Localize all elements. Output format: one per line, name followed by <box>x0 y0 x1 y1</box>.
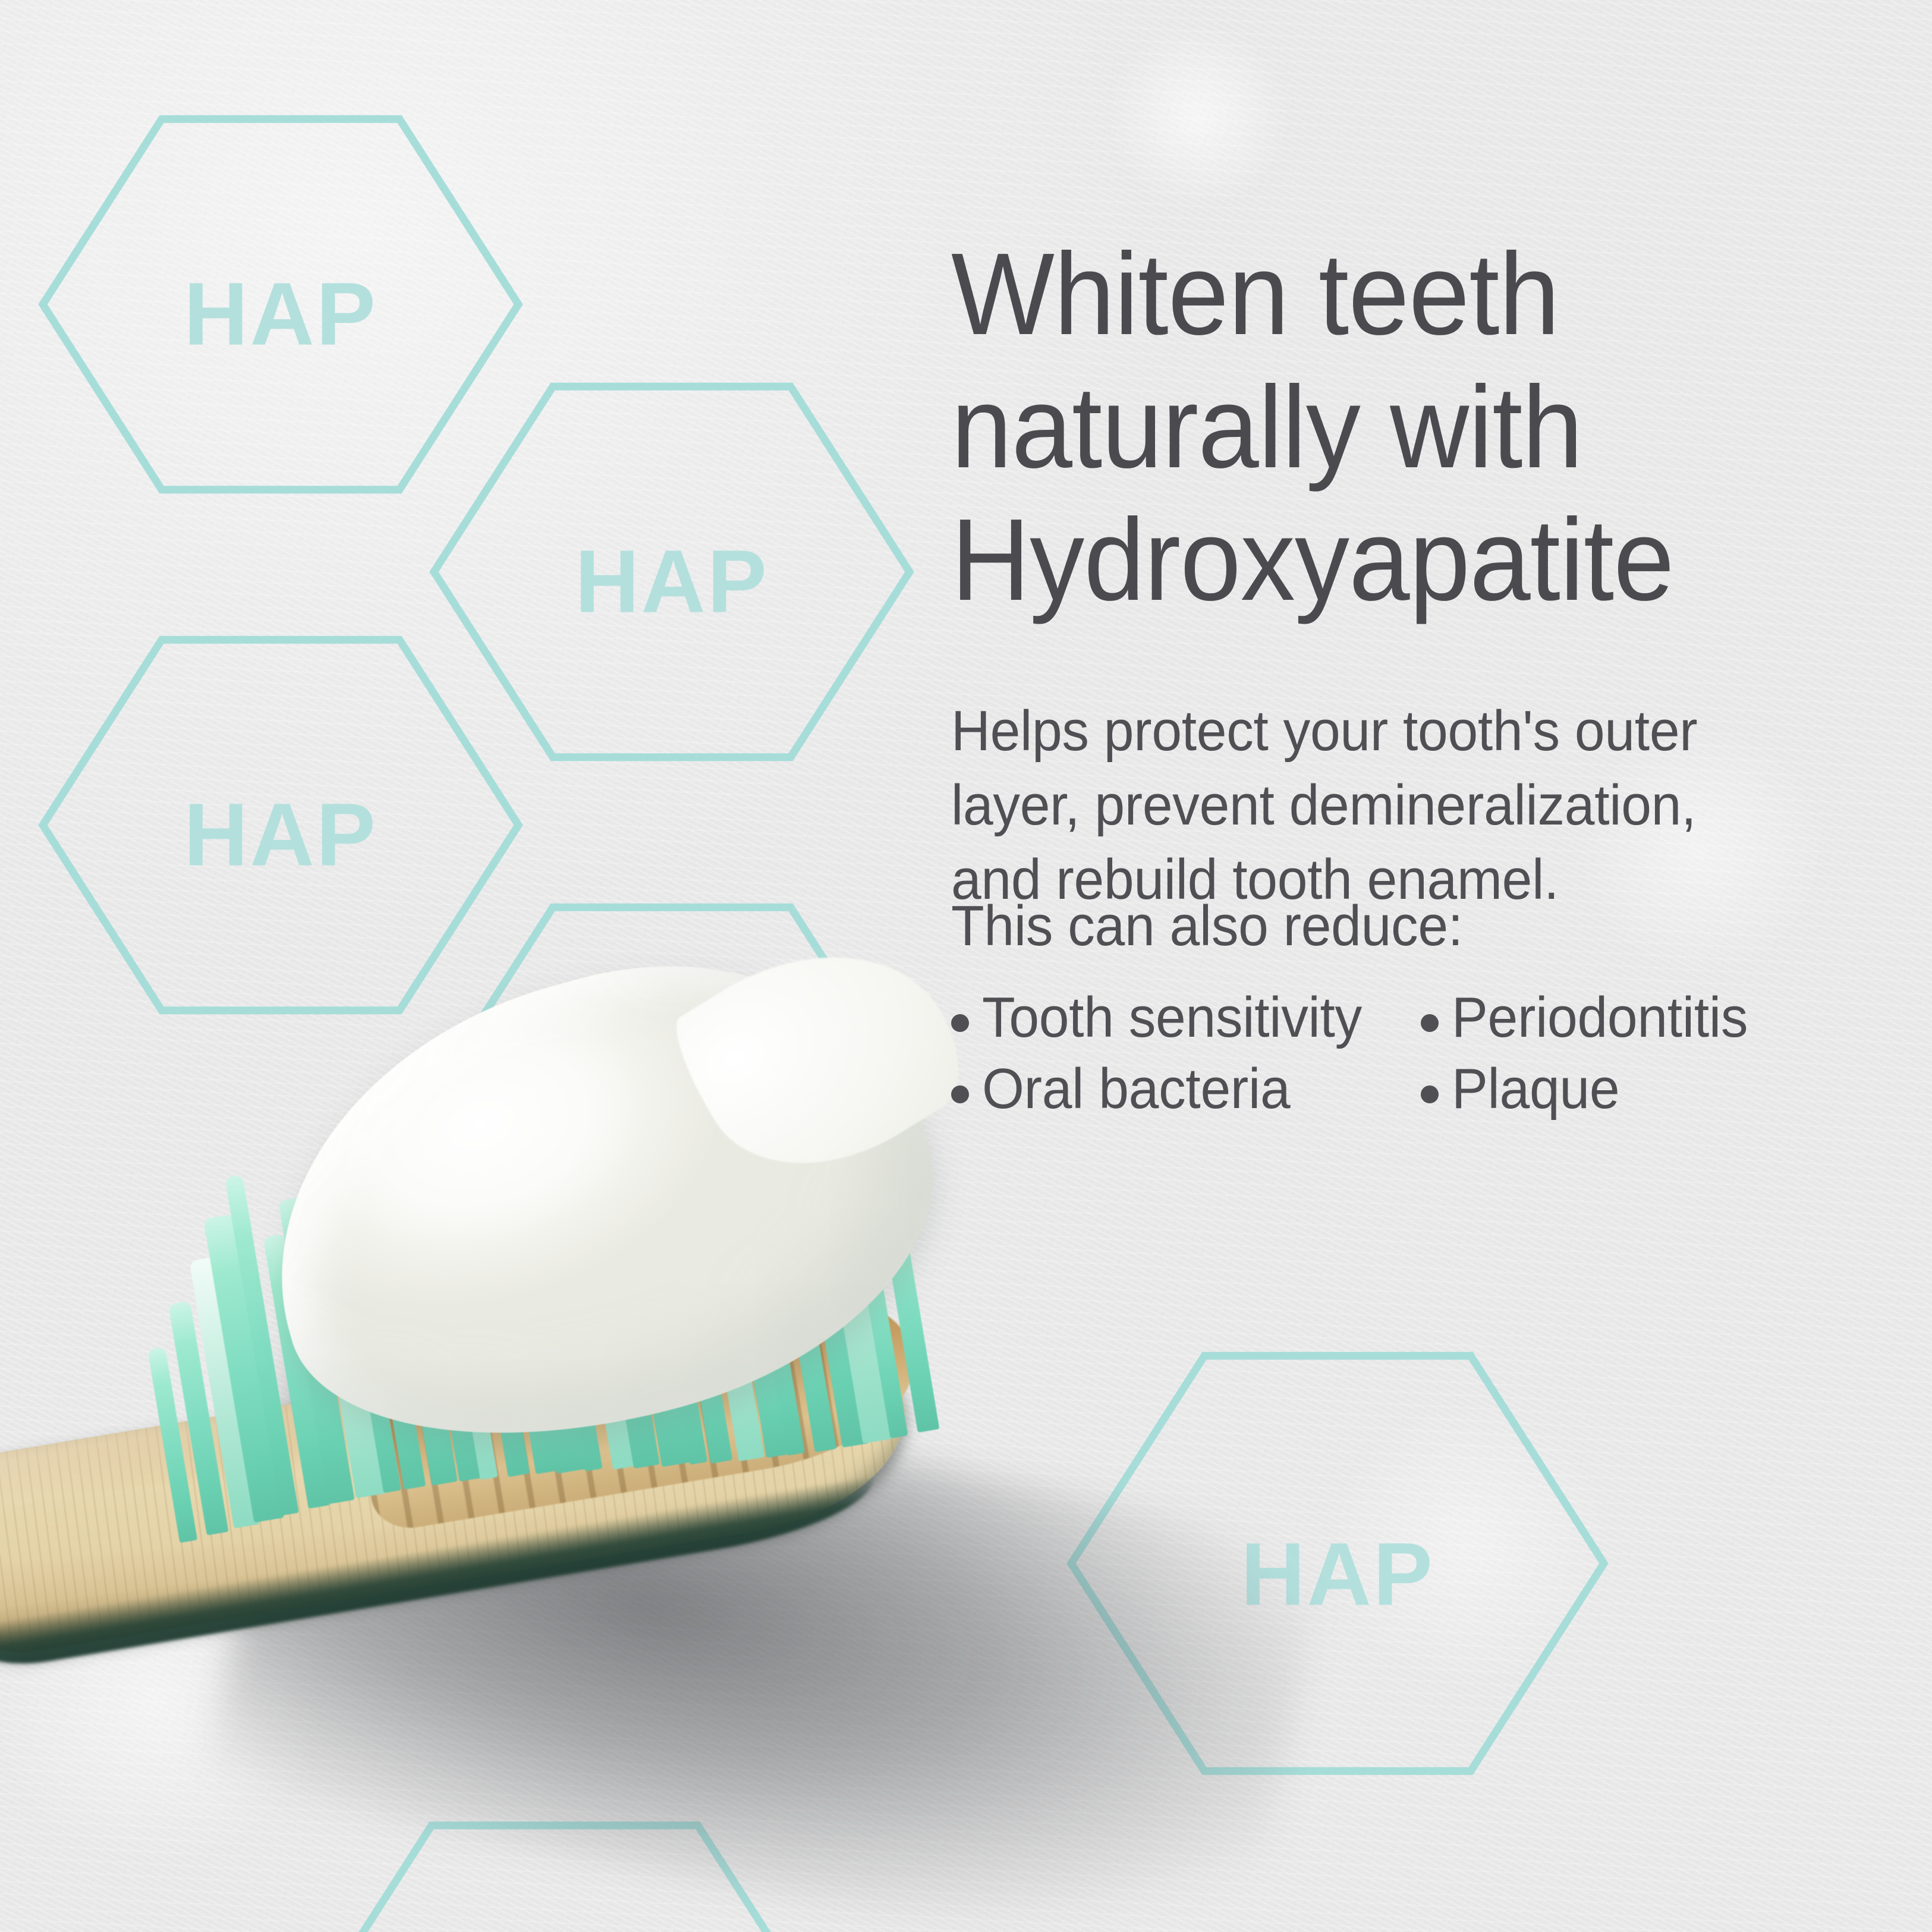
text-column: Whiten teeth naturally with Hydroxyapati… <box>951 0 1878 1932</box>
bullet-dot-icon <box>951 1014 969 1032</box>
subheading-text: Helps protect your tooth's outer layer, … <box>951 694 1753 917</box>
list-item: Oral bacteria <box>951 1058 1403 1129</box>
bullet-dot-icon <box>1421 1014 1439 1032</box>
hexagon-label: HAP <box>575 531 769 631</box>
list-item-label: Oral bacteria <box>982 1058 1290 1120</box>
list-item-label: Tooth sensitivity <box>982 987 1362 1049</box>
list-item: Periodontitis <box>1421 987 1837 1058</box>
benefit-column-left: Tooth sensitivity Oral bacteria <box>951 987 1403 1129</box>
reduce-label: This can also reduce: <box>951 893 1463 959</box>
benefit-column-right: Periodontitis Plaque <box>1421 987 1837 1129</box>
poster-canvas: HAPHAPHAPHAPHAPHAP Whiten teeth naturall… <box>0 0 1932 1932</box>
bullet-dot-icon <box>951 1085 969 1103</box>
page-title: Whiten teeth naturally with Hydroxyapati… <box>951 228 1789 626</box>
list-item: Tooth sensitivity <box>951 987 1403 1058</box>
list-item-label: Periodontitis <box>1452 987 1748 1049</box>
list-item-label: Plaque <box>1452 1058 1619 1120</box>
hexagon-label: HAP <box>184 264 377 364</box>
bullet-dot-icon <box>1421 1085 1439 1103</box>
hexagon-label: HAP <box>184 785 377 885</box>
list-item: Plaque <box>1421 1058 1837 1129</box>
